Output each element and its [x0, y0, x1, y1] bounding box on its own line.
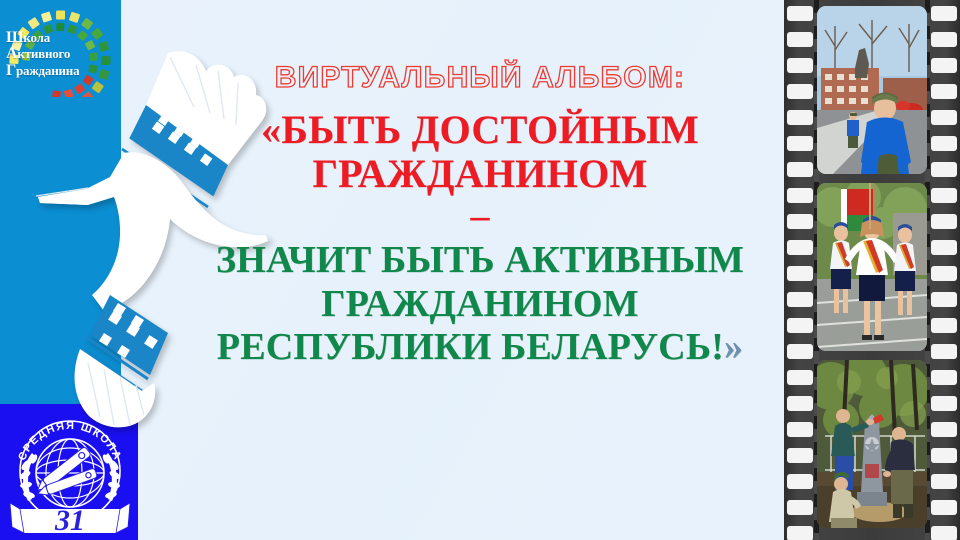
school-emblem: СРЕДНЯЯ ШКОЛА 31 [6, 409, 134, 537]
sprocket-hole [931, 32, 957, 47]
sprocket-hole [931, 110, 957, 125]
photo-frame-memorial-care[interactable] [817, 360, 927, 528]
sprocket-hole [787, 344, 813, 359]
sprocket-hole [787, 214, 813, 229]
emblem-school-number: 31 [54, 504, 85, 537]
photo-frame-cadets[interactable] [817, 6, 927, 174]
sprocket-hole [931, 240, 957, 255]
sprocket-hole [931, 396, 957, 411]
slide-canvas: Школа Активного Гражданина [0, 0, 960, 540]
sprocket-hole [931, 6, 957, 21]
title-text-block: ВИРТУАЛЬНЫЙ АЛЬБОМ: «БЫТЬ ДОСТОЙНЫМ ГРАЖ… [170, 62, 790, 369]
red-line-1: «БЫТЬ ДОСТОЙНЫМ [170, 108, 790, 153]
closing-quote: » [724, 326, 743, 368]
sprocket-hole [787, 266, 813, 281]
sprocket-hole [787, 240, 813, 255]
red-line-2: ГРАЖДАНИНОМ [170, 152, 790, 197]
dash-separator: – [170, 199, 790, 233]
sprocket-hole [931, 370, 957, 385]
sag-line3-cap: Г [6, 62, 16, 79]
sprocket-hole [787, 474, 813, 489]
sprocket-hole [787, 136, 813, 151]
sprocket-hole [787, 500, 813, 515]
sprocket-hole [787, 84, 813, 99]
photo-filmstrip [784, 0, 960, 540]
sprocket-hole [931, 422, 957, 437]
photo-frame-parade[interactable] [817, 183, 927, 351]
sprocket-hole [931, 266, 957, 281]
sprocket-hole [787, 162, 813, 177]
sprocket-hole [787, 32, 813, 47]
sprocket-hole [787, 370, 813, 385]
green-line-1: ЗНАЧИТ БЫТЬ АКТИВНЫМ [170, 239, 790, 282]
sprocket-hole [931, 448, 957, 463]
sprocket-hole [931, 84, 957, 99]
sprocket-hole [787, 526, 813, 540]
sprocket-hole [931, 500, 957, 515]
sprocket-hole [931, 162, 957, 177]
sprocket-holes-left [787, 0, 813, 540]
sprocket-hole [787, 396, 813, 411]
sprocket-hole [787, 6, 813, 21]
green-line-3: РЕСПУБЛИКИ БЕЛАРУСЬ! [217, 326, 724, 368]
sprocket-hole [787, 58, 813, 73]
sag-line2-cap: А [6, 45, 17, 62]
sprocket-hole [931, 188, 957, 203]
filmstrip-frames [817, 6, 927, 537]
kicker-virtual-album: ВИРТУАЛЬНЫЙ АЛЬБОМ: [170, 62, 790, 94]
green-line-2: ГРАЖДАНИНОМ [170, 283, 790, 326]
sprocket-hole [787, 110, 813, 125]
sprocket-hole [931, 526, 957, 540]
sprocket-hole [787, 188, 813, 203]
sprocket-hole [787, 318, 813, 333]
sprocket-hole [931, 58, 957, 73]
sprocket-hole [931, 474, 957, 489]
sprocket-hole [931, 136, 957, 151]
sprocket-holes-right [931, 0, 957, 540]
sprocket-hole [787, 448, 813, 463]
sprocket-hole [931, 318, 957, 333]
sag-line1-cap: Ш [6, 29, 23, 46]
sprocket-hole [787, 422, 813, 437]
sprocket-hole [787, 292, 813, 307]
green-line-3-wrap: РЕСПУБЛИКИ БЕЛАРУСЬ!» [170, 326, 790, 369]
sprocket-hole [931, 214, 957, 229]
sprocket-hole [931, 292, 957, 307]
sprocket-hole [931, 344, 957, 359]
sag-line1-rest: кола [23, 30, 50, 45]
